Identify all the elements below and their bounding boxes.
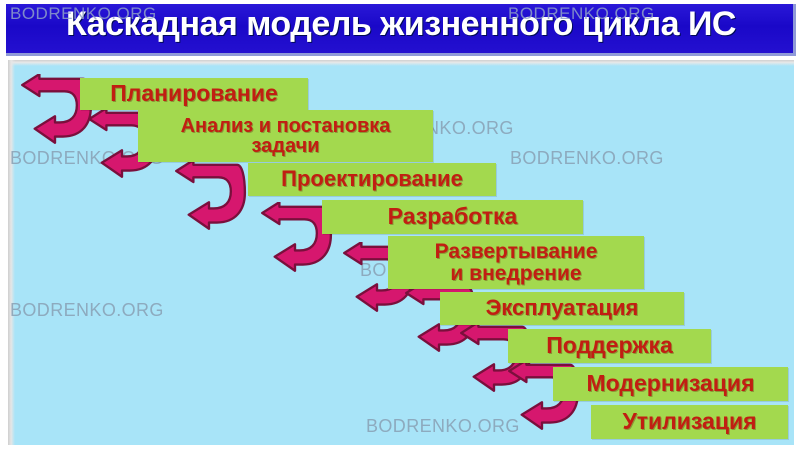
stage-box-4[interactable]: Разработка <box>322 200 583 234</box>
stage-label-1: Планирование <box>110 82 278 105</box>
stage-box-6[interactable]: Эксплуатация <box>440 292 684 325</box>
stage-label-9: Утилизация <box>622 410 756 433</box>
stage-label-7: Поддержка <box>546 334 673 357</box>
cascade-arrow-3 <box>170 160 248 232</box>
watermark-5: BODRENKO.ORG <box>10 300 164 321</box>
slide-canvas: BODRENKO.ORG BODRENKO.ORG Каскадная моде… <box>0 0 802 451</box>
watermark-banner-right: BODRENKO.ORG <box>508 4 655 24</box>
stage-box-5[interactable]: Развертывание и внедрение <box>388 236 644 289</box>
stage-box-8[interactable]: Модернизация <box>553 367 788 401</box>
stage-label-2: Анализ и постановка задачи <box>181 116 391 157</box>
watermark-banner-left: BODRENKO.ORG <box>10 4 157 24</box>
stage-label-5: Развертывание и внедрение <box>435 241 598 284</box>
diagram-canvas: BODRENKO.ORGBODRENKO.ORGBODRENKO.ORGBODR… <box>8 60 794 445</box>
stage-box-7[interactable]: Поддержка <box>508 329 711 363</box>
stage-box-3[interactable]: Проектирование <box>248 163 496 196</box>
stage-label-6: Эксплуатация <box>486 297 639 319</box>
stage-box-9[interactable]: Утилизация <box>591 405 788 439</box>
stage-box-1[interactable]: Планирование <box>80 78 308 110</box>
stage-label-4: Разработка <box>388 205 518 228</box>
watermark-6: BODRENKO.ORG <box>366 416 520 437</box>
stage-box-2[interactable]: Анализ и постановка задачи <box>138 110 433 162</box>
stage-label-8: Модернизация <box>587 372 755 395</box>
stage-label-3: Проектирование <box>281 168 463 190</box>
watermark-3: BODRENKO.ORG <box>510 148 664 169</box>
